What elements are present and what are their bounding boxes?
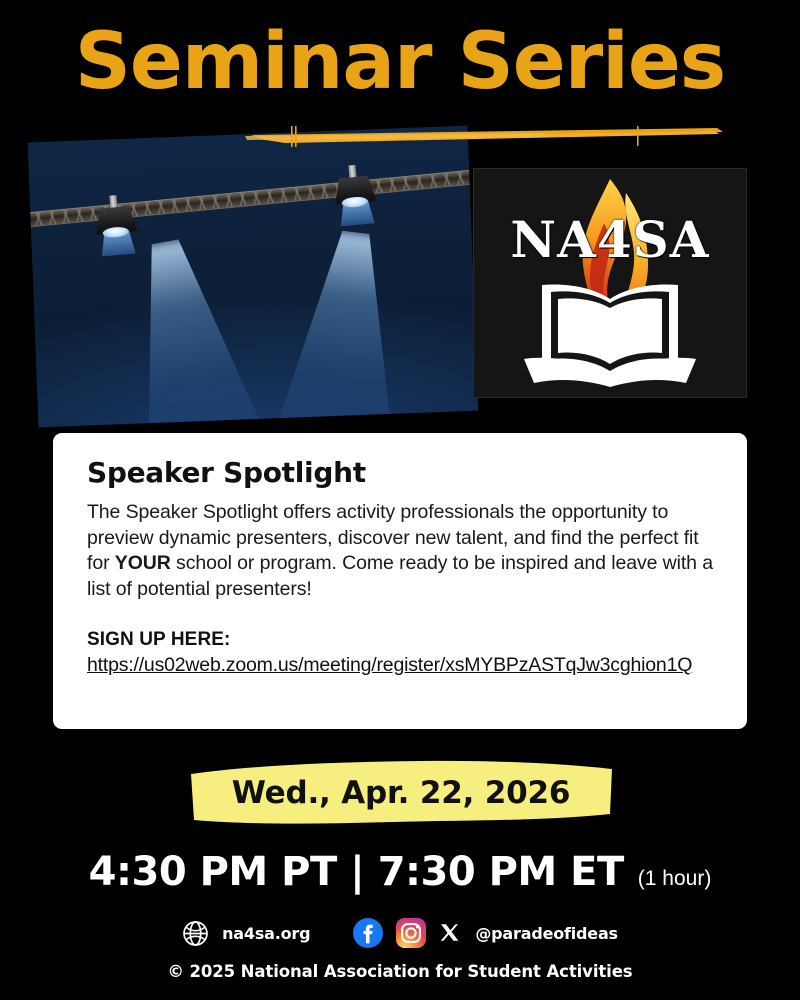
stage-spotlights-image bbox=[28, 126, 479, 428]
globe-icon[interactable] bbox=[182, 920, 209, 947]
card-body-part2: school or program. Come ready to be insp… bbox=[87, 552, 713, 600]
spotlight-lamp-left bbox=[90, 193, 141, 251]
page-title: Seminar Series bbox=[0, 14, 800, 110]
info-card: Speaker Spotlight The Speaker Spotlight … bbox=[53, 433, 747, 729]
card-body-emphasis: YOUR bbox=[115, 552, 171, 574]
event-time: 4:30 PM PT | 7:30 PM ET bbox=[89, 848, 624, 896]
card-body: The Speaker Spotlight offers activity pr… bbox=[87, 500, 717, 602]
social-links-row: na4sa.org bbox=[0, 918, 800, 948]
social-handle[interactable]: @paradeofideas bbox=[475, 924, 618, 943]
spotlight-lamp-right bbox=[329, 163, 380, 221]
signup-label: SIGN UP HERE: bbox=[87, 628, 717, 652]
event-duration: (1 hour) bbox=[638, 866, 712, 892]
copyright-text: © 2025 National Association for Student … bbox=[0, 962, 800, 981]
stage-backdrop bbox=[28, 126, 479, 428]
event-date-banner: Wed., Apr. 22, 2026 bbox=[186, 758, 616, 828]
event-date: Wed., Apr. 22, 2026 bbox=[186, 758, 616, 828]
open-book-icon bbox=[518, 281, 702, 387]
x-twitter-icon[interactable] bbox=[439, 922, 462, 945]
seminar-series-poster: Seminar Series bbox=[0, 0, 800, 1000]
registration-link[interactable]: https://us02web.zoom.us/meeting/register… bbox=[87, 653, 717, 678]
event-time-row: 4:30 PM PT | 7:30 PM ET (1 hour) bbox=[0, 848, 800, 896]
website-label[interactable]: na4sa.org bbox=[222, 924, 310, 943]
card-heading: Speaker Spotlight bbox=[87, 457, 717, 489]
facebook-icon[interactable] bbox=[353, 918, 383, 948]
na4sa-wordmark: NA4SA bbox=[474, 215, 746, 265]
na4sa-logo: NA4SA bbox=[473, 168, 747, 398]
instagram-icon[interactable] bbox=[396, 918, 426, 948]
